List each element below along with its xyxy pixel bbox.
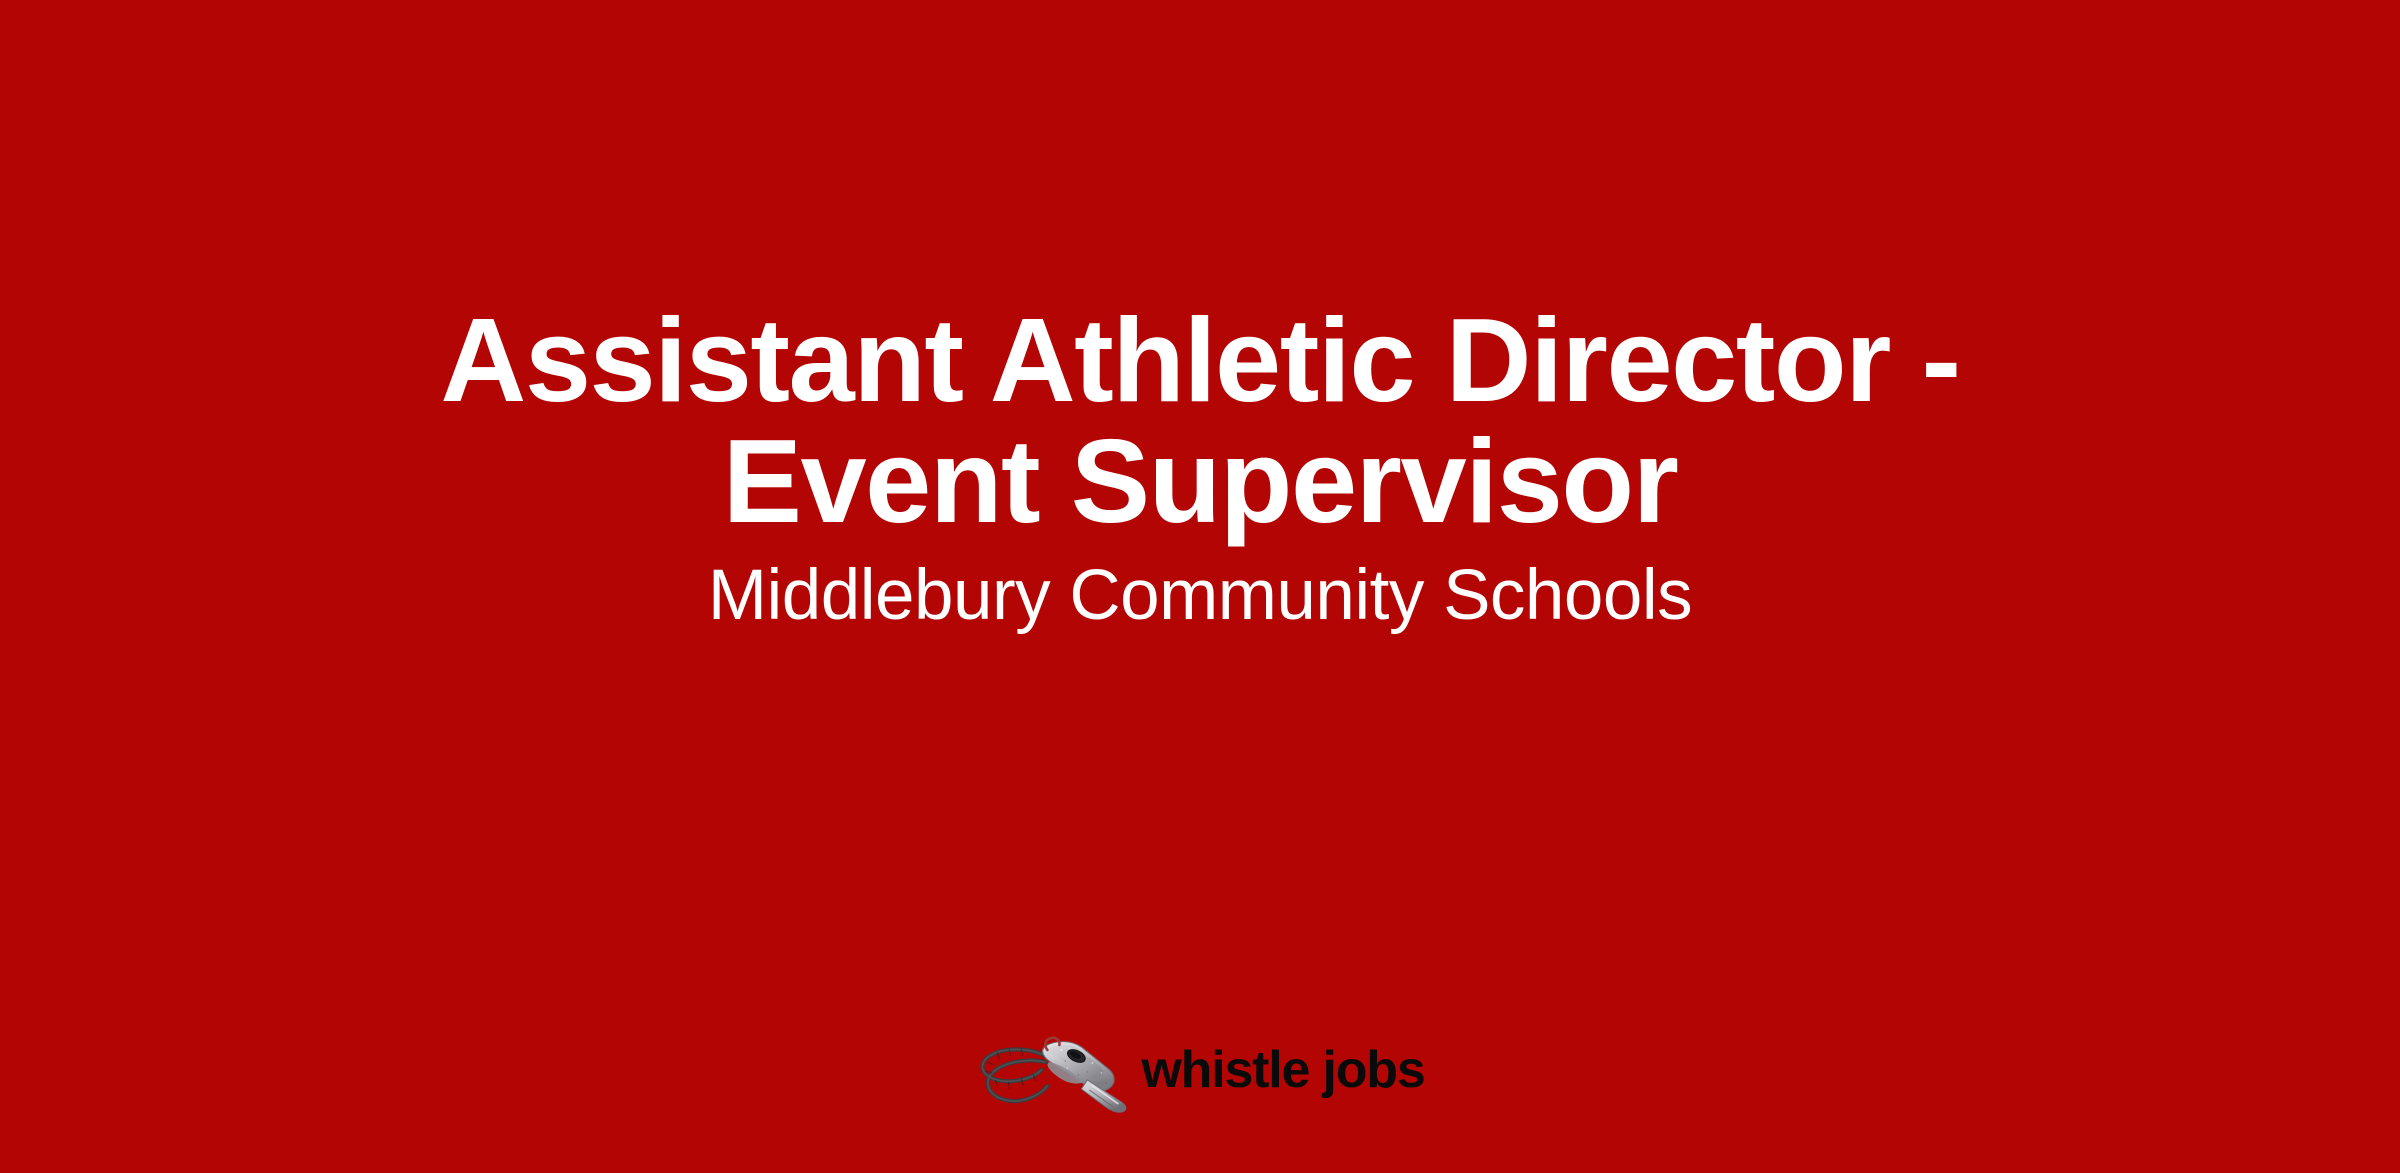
card-content: Assistant Athletic Director - Event Supe… bbox=[0, 300, 2400, 635]
job-share-card: Assistant Athletic Director - Event Supe… bbox=[0, 0, 2400, 1173]
organization-name: Middlebury Community Schools bbox=[708, 557, 1692, 635]
whistle-icon bbox=[975, 1028, 1135, 1114]
brand-logo: whistle jobs bbox=[975, 1028, 1424, 1114]
job-title: Assistant Athletic Director - Event Supe… bbox=[420, 300, 1980, 543]
brand-wordmark: whistle jobs bbox=[1141, 1044, 1424, 1098]
